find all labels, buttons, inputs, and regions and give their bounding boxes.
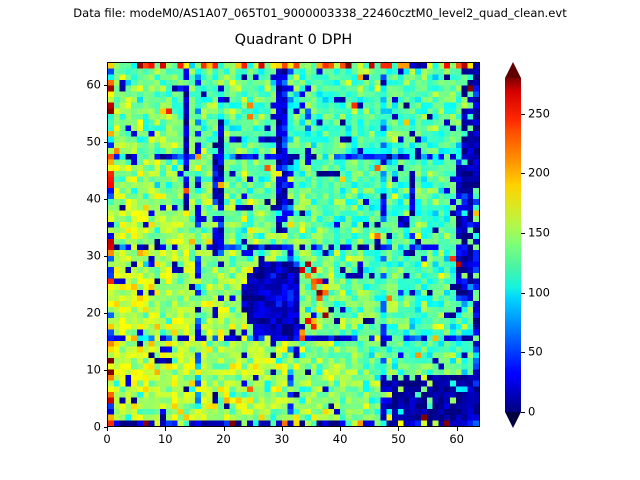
x-tick-label: 50: [391, 433, 406, 446]
colorbar-tick-mark: [521, 173, 525, 174]
colorbar-gradient: [505, 62, 521, 428]
y-tick-label: 10: [63, 363, 101, 376]
y-tick-label: 20: [63, 306, 101, 319]
colorbar-tick-label: 200: [528, 167, 550, 180]
data-file-suptitle: Data file: modeM0/AS1A07_065T01_90000033…: [0, 6, 640, 20]
x-tick-label: 60: [449, 433, 464, 446]
y-tick-mark: [104, 142, 108, 143]
x-tick-label: 20: [216, 433, 231, 446]
y-tick-label: 60: [63, 78, 101, 91]
x-tick-mark: [165, 427, 166, 431]
x-tick-label: 30: [275, 433, 290, 446]
x-tick-mark: [107, 427, 108, 431]
matplotlib-figure: Data file: modeM0/AS1A07_065T01_90000033…: [0, 0, 640, 480]
colorbar: 050100150200250: [505, 62, 521, 428]
colorbar-tick-label: 0: [528, 406, 535, 419]
y-tick-mark: [104, 427, 108, 428]
colorbar-tick-label: 250: [528, 107, 550, 120]
x-tick-mark: [398, 427, 399, 431]
x-tick-label: 10: [158, 433, 173, 446]
x-tick-mark: [282, 427, 283, 431]
y-tick-mark: [104, 313, 108, 314]
colorbar-tick-mark: [521, 352, 525, 353]
colorbar-tick-mark: [521, 114, 525, 115]
y-tick-label: 0: [63, 421, 101, 434]
y-tick-mark: [104, 85, 108, 86]
y-tick-mark: [104, 256, 108, 257]
colorbar-tick-label: 100: [528, 286, 550, 299]
y-tick-mark: [104, 199, 108, 200]
x-tick-label: 40: [333, 433, 348, 446]
heatmap-axes: [107, 62, 480, 427]
x-tick-mark: [224, 427, 225, 431]
y-tick-mark: [104, 370, 108, 371]
colorbar-tick-mark: [521, 293, 525, 294]
x-tick-mark: [457, 427, 458, 431]
colorbar-tick-label: 50: [528, 346, 543, 359]
colorbar-tick-mark: [521, 412, 525, 413]
page-title: Quadrant 0 DPH: [107, 31, 480, 49]
colorbar-tick-mark: [521, 233, 525, 234]
colorbar-tick-label: 150: [528, 227, 550, 240]
y-tick-label: 30: [63, 249, 101, 262]
x-tick-mark: [340, 427, 341, 431]
y-tick-label: 40: [63, 192, 101, 205]
x-tick-label: 0: [103, 433, 110, 446]
y-tick-label: 50: [63, 135, 101, 148]
detector-plane-heatmap: [108, 63, 479, 426]
